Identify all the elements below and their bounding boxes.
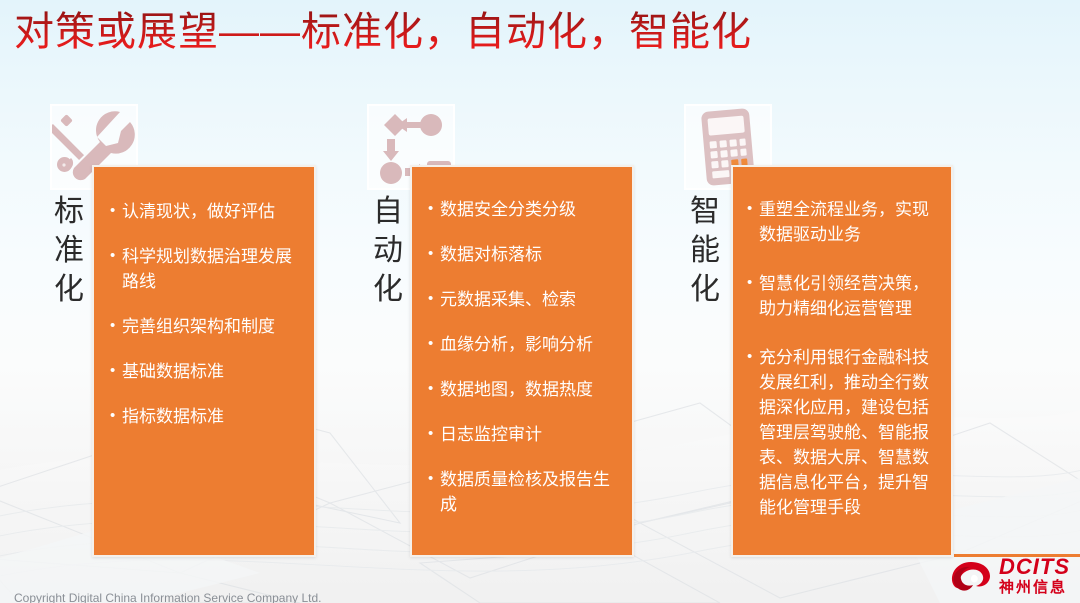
list-item: 重塑全流程业务，实现数据驱动业务 [747,197,935,247]
copyright-text: Copyright Digital China Information Serv… [14,591,321,603]
column-label-char: 自 [371,192,405,231]
list-item: 数据对标落标 [428,242,616,267]
list-item: 充分利用银行金融科技发展红利，推动全行数据深化应用，建设包括管理层驾驶舱、智能报… [747,345,935,520]
panel-standardization: 认清现状，做好评估 科学规划数据治理发展路线 完善组织架构和制度 基础数据标准 … [92,165,316,557]
column-label-automation: 自 动 化 [371,192,405,309]
panel-automation: 数据安全分类分级 数据对标落标 元数据采集、检索 血缘分析，影响分析 数据地图，… [410,165,634,557]
list-item: 完善组织架构和制度 [110,314,296,339]
company-logo: DCITS 神州信息 [947,556,1070,597]
slide-title: 对策或展望——标准化，自动化，智能化 [14,6,752,58]
list-item: 日志监控审计 [428,422,616,447]
column-label-standardization: 标 准 化 [52,192,86,309]
panel-intelligence: 重塑全流程业务，实现数据驱动业务 智慧化引领经营决策，助力精细化运营管理 充分利… [731,165,953,557]
list-item: 基础数据标准 [110,359,296,384]
bullet-list-automation: 数据安全分类分级 数据对标落标 元数据采集、检索 血缘分析，影响分析 数据地图，… [428,197,616,517]
column-label-char: 能 [688,231,722,270]
column-label-char: 标 [52,192,86,231]
logo-cn-text: 神州信息 [999,579,1070,597]
logo-en-text: DCITS [999,556,1070,578]
list-item: 血缘分析，影响分析 [428,332,616,357]
column-label-char: 动 [371,231,405,270]
list-item: 数据安全分类分级 [428,197,616,222]
logo-wordmark: DCITS 神州信息 [999,556,1070,597]
list-item: 科学规划数据治理发展路线 [110,244,296,294]
column-label-intelligence: 智 能 化 [688,192,722,309]
list-item: 指标数据标准 [110,404,296,429]
list-item: 认清现状，做好评估 [110,199,296,224]
list-item: 数据质量检核及报告生成 [428,467,616,517]
list-item: 元数据采集、检索 [428,287,616,312]
column-label-char: 智 [688,192,722,231]
column-label-char: 化 [52,270,86,309]
bullet-list-standardization: 认清现状，做好评估 科学规划数据治理发展路线 完善组织架构和制度 基础数据标准 … [110,199,296,429]
column-label-char: 化 [371,270,405,309]
bullet-list-intelligence: 重塑全流程业务，实现数据驱动业务 智慧化引领经营决策，助力精细化运营管理 充分利… [747,197,935,520]
list-item: 智慧化引领经营决策，助力精细化运营管理 [747,271,935,321]
column-label-char: 化 [688,270,722,309]
dcits-swoosh-icon [947,557,993,597]
column-label-char: 准 [52,231,86,270]
list-item: 数据地图，数据热度 [428,377,616,402]
slide-canvas: 对策或展望——标准化，自动化，智能化 标 准 化 [0,0,1080,603]
